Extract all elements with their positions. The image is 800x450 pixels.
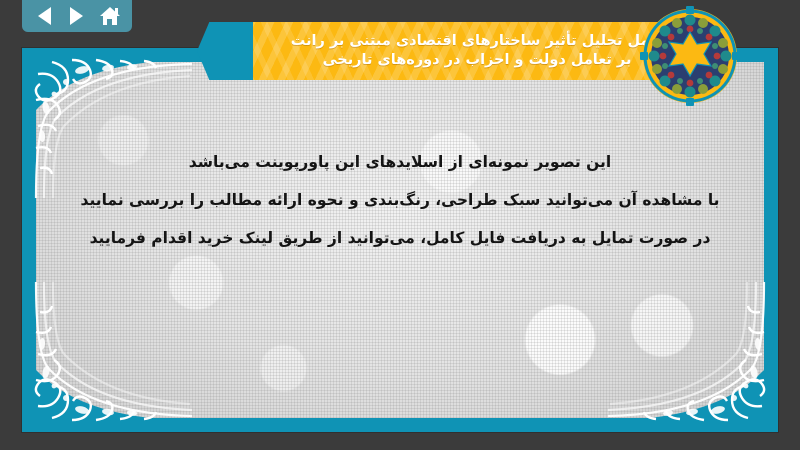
previous-slide-button[interactable] [31,3,57,29]
page-title: کامل تحلیل تأثیر ساختارهای اقتصادی مبتنی… [248,22,682,80]
slide-body-line: با مشاهده آن می‌توانید سبک طراحی، رنگ‌بن… [62,182,738,220]
slide-body-line: در صورت تمایل به دریافت فایل کامل، می‌تو… [62,220,738,258]
ornamental-rosette-icon [640,6,740,106]
home-icon [100,7,120,25]
triangle-left-icon [38,7,51,25]
title-banner: کامل تحلیل تأثیر ساختارهای اقتصادی مبتنی… [248,22,682,80]
slide-body-text: این تصویر نمونه‌ای از اسلایدهای این پاور… [62,144,738,258]
next-slide-button[interactable] [64,3,90,29]
home-button[interactable] [97,3,123,29]
presentation-slide: کامل تحلیل تأثیر ساختارهای اقتصادی مبتنی… [0,0,800,450]
triangle-right-icon [70,7,83,25]
slide-navigation-bar [22,0,132,32]
slide-body-line: این تصویر نمونه‌ای از اسلایدهای این پاور… [62,144,738,182]
